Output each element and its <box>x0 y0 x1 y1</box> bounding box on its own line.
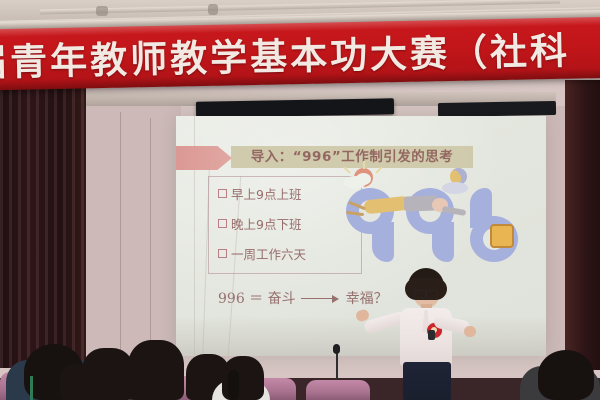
right-arrow-icon <box>301 294 341 303</box>
eyeglasses-icon-right <box>426 290 438 299</box>
slide-content: 导入：“996”工作制引发的思考 早上9点上班 晚上9点下班 一周工作六天 99… <box>176 120 546 320</box>
996-illustration <box>346 168 526 273</box>
attendee-head <box>128 340 184 400</box>
ceiling-fitting <box>96 6 108 16</box>
bullet-label: 晚上9点下班 <box>231 214 301 233</box>
photo-scene: 届青年教师教学基本功大赛（社科 导入：“996”工作制引发的思考 早上9点上班 … <box>0 0 600 400</box>
slide-accent-arrow-icon <box>176 146 232 170</box>
attendee-ponytail <box>228 370 239 400</box>
checkbox-square-icon <box>218 249 227 258</box>
projector-mount <box>438 101 556 117</box>
microphone-head-icon-2 <box>333 344 340 354</box>
list-item: 早上9点上班 <box>218 184 301 203</box>
checkbox-square-icon <box>218 219 227 228</box>
list-item: 晚上9点下班 <box>218 214 301 233</box>
eyeglasses-icon <box>414 290 426 299</box>
bullet-label: 一周工作六天 <box>231 244 306 263</box>
slide-equation: 996 ＝ 奋斗 幸福？ <box>218 288 388 308</box>
checkbox-square-icon <box>218 189 227 198</box>
bullet-label: 早上9点上班 <box>231 184 301 203</box>
attendee-head <box>538 350 594 400</box>
list-item: 一周工作六天 <box>218 244 306 263</box>
sun-ray <box>363 161 365 169</box>
cloud-icon-2 <box>356 173 371 185</box>
lanyard <box>30 376 33 400</box>
equation-left: 996 ＝ 奋斗 <box>218 288 296 308</box>
chair-back <box>306 380 370 400</box>
attendee-head <box>82 348 134 400</box>
sun-ray <box>375 167 382 174</box>
ceiling-fitting-2 <box>208 4 218 15</box>
clock-icon <box>490 224 514 248</box>
sun-ray <box>344 167 351 174</box>
audience <box>0 318 600 400</box>
slide-title: 导入：“996”工作制引发的思考 <box>234 148 470 166</box>
